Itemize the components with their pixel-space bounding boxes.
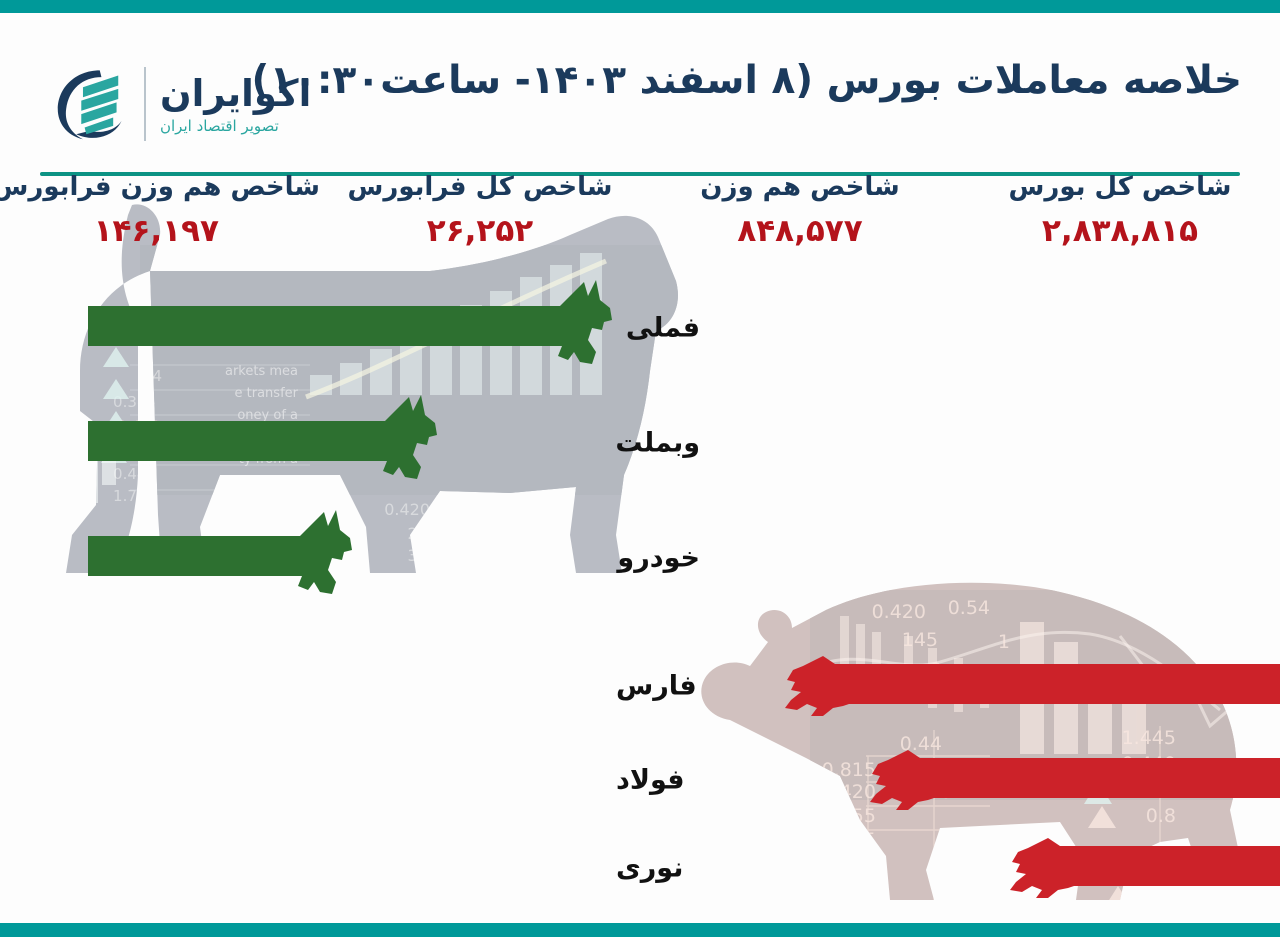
bar-label: فارس (616, 671, 697, 702)
logo-wordmark: اکوایران تصویر اقتصاد ایران (160, 75, 311, 134)
index-label: شاخص کل بورس (960, 172, 1280, 202)
ecoiran-logo-icon (46, 62, 130, 146)
chart-row-bull[interactable]: فملی (0, 278, 700, 378)
bear-bar[interactable] (769, 636, 1280, 736)
bar-label: فولاد (616, 765, 685, 796)
bottom-accent-bar (0, 923, 1280, 937)
top-accent-bar (0, 0, 1280, 13)
bear-bar[interactable] (854, 730, 1280, 830)
index-card-equal-weight: شاخص هم وزن ۸۴۸,۵۷۷ (640, 172, 960, 249)
chart-row-bull[interactable]: وبملت (0, 393, 700, 493)
index-summary-row: شاخص کل بورس ۲,۸۳۸,۸۱۵ شاخص هم وزن ۸۴۸,۵… (0, 172, 1280, 268)
index-card-total-farabourse: شاخص کل فرابورس ۲۶,۲۵۲ (320, 172, 640, 249)
chart-row-bear[interactable]: نوری (616, 818, 1280, 918)
bar-label: وبملت (615, 428, 700, 459)
bar-label: فملی (626, 313, 700, 344)
chart-row-bear[interactable]: فارس (616, 636, 1280, 736)
site-logo[interactable]: اکوایران تصویر اقتصاد ایران (46, 54, 336, 154)
index-card-equal-weight-farabourse: شاخص هم وزن فرابورس ۱۴۶,۱۹۷ (0, 172, 320, 249)
bull-bar[interactable] (88, 508, 370, 608)
header: خلاصه معاملات بورس (۸ اسفند ۱۴۰۳- ساعت۱۰… (0, 20, 1280, 145)
logo-divider (144, 67, 146, 141)
bar-label: نوری (616, 853, 683, 884)
bear-bar[interactable] (994, 818, 1280, 918)
logo-tagline: تصویر اقتصاد ایران (160, 119, 279, 134)
bull-bar[interactable] (88, 393, 455, 493)
index-label: شاخص هم وزن (640, 172, 960, 202)
index-value: ۲۶,۲۵۲ (320, 213, 640, 249)
index-label: شاخص کل فرابورس (320, 172, 640, 202)
logo-name: اکوایران (160, 75, 311, 112)
bull-bar[interactable] (88, 278, 630, 378)
page-title: خلاصه معاملات بورس (۸ اسفند ۱۴۰۳- ساعت۱۰… (252, 58, 1243, 103)
chart-row-bear[interactable]: فولاد (616, 730, 1280, 830)
impact-bar-chart: فملی وبملت خودرو فارس فولاد نوری (0, 268, 1280, 913)
index-value: ۸۴۸,۵۷۷ (640, 213, 960, 249)
chart-row-bull[interactable]: خودرو (0, 508, 700, 608)
index-label: شاخص هم وزن فرابورس (0, 172, 320, 202)
index-card-total-bourse: شاخص کل بورس ۲,۸۳۸,۸۱۵ (960, 172, 1280, 249)
index-value: ۲,۸۳۸,۸۱۵ (960, 213, 1280, 249)
bar-label: خودرو (617, 543, 700, 574)
infographic-page: 0.4 0.385 0.420 0.145 0.440 1.785 0.3 (0, 0, 1280, 937)
index-value: ۱۴۶,۱۹۷ (0, 213, 320, 249)
